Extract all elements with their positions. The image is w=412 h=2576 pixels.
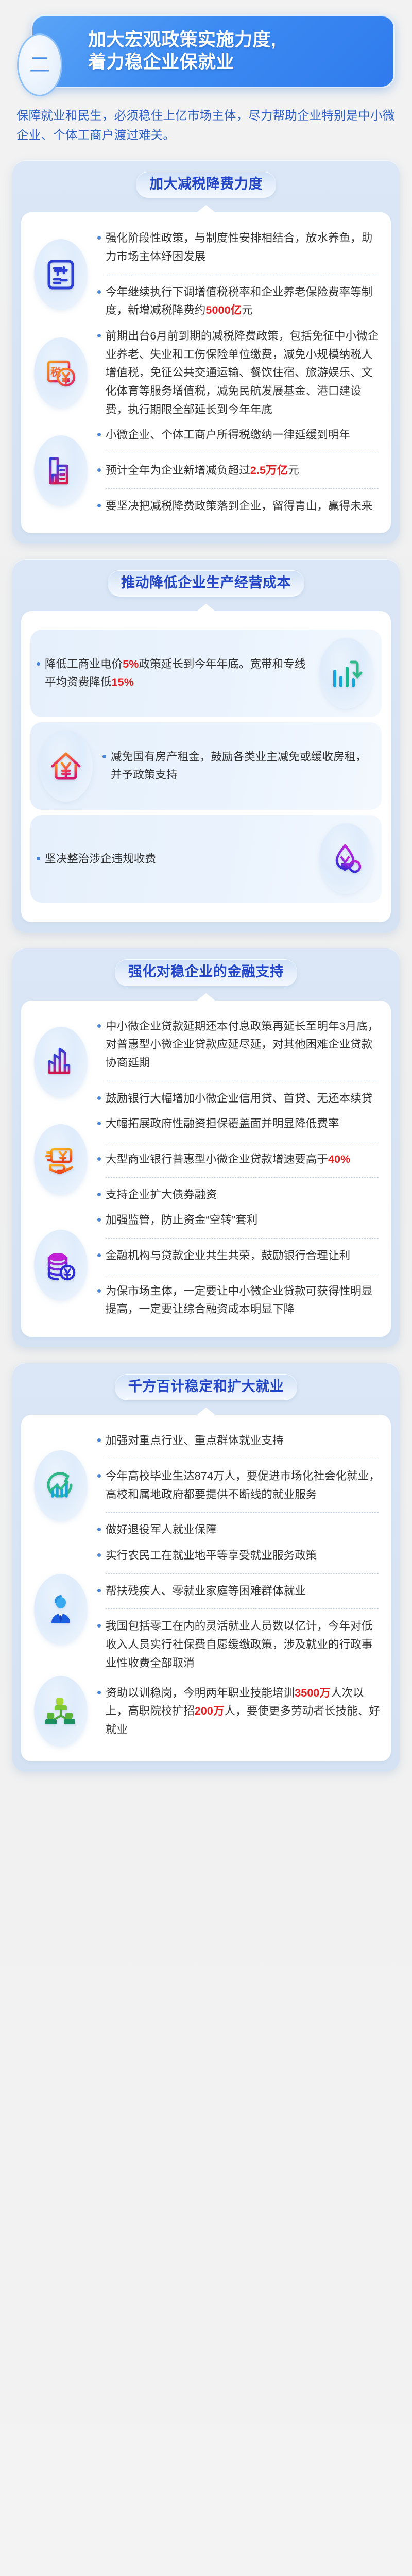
- bullet-divider: [106, 1608, 379, 1609]
- text-fragment: 前期出台6月前到期的减税降费政策，包括免征中小微企业养老、失业和工伤保险单位缴费…: [106, 330, 379, 416]
- bullet-dot-icon: [97, 468, 101, 472]
- bullet-item: 帮扶残疾人、零就业家庭等困难群体就业: [97, 1579, 381, 1604]
- text-fragment: 支持企业扩大债券融资: [106, 1189, 217, 1201]
- bullet-list: 降低工商业电价5%政策延长到今年年底。宽带和专线平均资费降低15%: [36, 652, 311, 696]
- highlight-number: 2.5万亿: [250, 464, 288, 477]
- growth-arrow-chart-icon: [34, 1450, 88, 1521]
- policy-row: 中小微企业贷款延期还本付息政策再延长至明年3月底，对普惠型小微企业贷款应延尽延，…: [30, 1014, 382, 1112]
- bullet-dot-icon: [97, 1218, 101, 1222]
- policy-row: 实行农民工在就业地平等享受就业服务政策帮扶残疾人、零就业家庭等困难群体就业我国包…: [30, 1543, 382, 1676]
- icon-cell: [30, 1124, 91, 1195]
- bullet-divider: [106, 1274, 379, 1274]
- bullet-item: 为保市场主体，一定要让中小微企业贷款可获得性明显提高，一定要让综合融资成本明显下…: [97, 1279, 381, 1323]
- text-fragment: 加强对重点行业、重点群体就业支持: [106, 1434, 284, 1447]
- bullet-dot-icon: [97, 1122, 101, 1125]
- bullet-dot-icon: [97, 1691, 101, 1694]
- section-title: 加大减税降费力度: [149, 176, 263, 192]
- section-header-pill: 千方百计稳定和扩大就业: [115, 1374, 298, 1400]
- bullet-item: 做好退役军人就业保障: [97, 1517, 381, 1543]
- text-fragment: 鼓励银行大幅增加小微企业信用贷、首贷、无还本续贷: [106, 1092, 372, 1105]
- bullet-dot-icon: [97, 1024, 101, 1028]
- bullet-item: 中小微企业贷款延期还本付息政策再延长至明年3月底，对普惠型小微企业贷款应延尽延，…: [97, 1014, 381, 1076]
- bullet-item: 加强监管，防止资金“空转”套利: [97, 1208, 381, 1233]
- bullet-divider: [106, 488, 379, 489]
- icon-cell: [30, 1027, 91, 1098]
- bullet-dot-icon: [97, 1553, 101, 1557]
- building-chart-icon: [34, 435, 88, 506]
- callout-notch: [196, 604, 216, 612]
- bullet-text: 做好退役军人就业保障: [106, 1521, 381, 1539]
- text-fragment: 元: [242, 304, 253, 316]
- bullet-text: 今年高校毕业生达874万人，要促进市场化社会化就业，高校和属地政府都要提供不断线…: [106, 1467, 381, 1504]
- bullet-list: 坚决整治涉企违规收费: [36, 846, 311, 872]
- policy-row: 税 前期出台6月前到期的减税降费政策，包括免征中小微企业养老、失业和工伤保险单位…: [30, 324, 382, 422]
- bullet-text: 帮扶残疾人、零就业家庭等困难群体就业: [106, 1582, 381, 1601]
- section-body: 中小微企业贷款延期还本付息政策再延长至明年3月底，对普惠型小微企业贷款应延尽延，…: [21, 1001, 391, 1337]
- icon-cell: [30, 1230, 91, 1301]
- bullet-item: 降低工商业电价5%政策延长到今年年底。宽带和专线平均资费降低15%: [37, 652, 310, 696]
- bullet-item: 强化阶段性政策，与制度性安排相结合，放水养鱼，助力市场主体纾困发展: [97, 226, 381, 269]
- bullet-text: 减免国有房产租金，鼓励各类业主减免或缓收房租，并予政策支持: [111, 748, 375, 785]
- bullet-dot-icon: [97, 1474, 101, 1478]
- icon-cell: [30, 239, 91, 310]
- declining-bar-chart-icon: [319, 638, 373, 709]
- bullet-dot-icon: [97, 1438, 101, 1442]
- section-header-pill: 强化对稳企业的金融支持: [115, 959, 298, 986]
- bullet-text: 资助以训稳岗，今明两年职业技能培训3500万人次以上，高职院校扩招200万人，要…: [106, 1684, 381, 1739]
- callout-notch: [196, 1408, 216, 1415]
- bullet-text: 降低工商业电价5%政策延长到今年年底。宽带和专线平均资费降低15%: [45, 655, 310, 692]
- icon-cell: [316, 638, 376, 709]
- text-fragment: 为保市场主体，一定要让中小微企业贷款可获得性明显提高，一定要让综合融资成本明显下…: [106, 1285, 372, 1316]
- text-fragment: 强化阶段性政策，与制度性安排相结合，放水养鱼，助力市场主体纾困发展: [106, 232, 372, 263]
- bullet-text: 大型商业银行普惠型小微企业贷款增速要高于40%: [106, 1150, 381, 1169]
- bullet-item: 预计全年为企业新增减负超过2.5万亿元: [97, 458, 381, 484]
- text-fragment: 预计全年为企业新增减负超过: [106, 464, 250, 477]
- bullet-dot-icon: [97, 1624, 101, 1628]
- bullet-dot-icon: [102, 755, 106, 758]
- bullet-list: 小微企业、个体工商户所得税缴纳一律延缓到明年预计全年为企业新增减负超过2.5万亿…: [96, 422, 382, 519]
- section-title: 强化对稳企业的金融支持: [128, 964, 284, 980]
- bullet-item: 金融机构与贷款企业共生共荣，鼓励银行合理让利: [97, 1243, 381, 1269]
- text-fragment: 减免国有房产租金，鼓励各类业主减免或缓收房租，并予政策支持: [111, 751, 367, 782]
- bullet-text: 要坚决把减税降费政策落到企业，留得青山，赢得未来: [106, 497, 381, 516]
- bullet-dot-icon: [97, 1253, 101, 1257]
- section-header-pill: 推动降低企业生产经营成本: [108, 570, 304, 597]
- section-number-text: 二: [29, 55, 50, 75]
- sections-container: 加大减税降费力度 强化阶段性政策，与制度性安排相结合，放水养鱼，助力市场主体纾困…: [0, 160, 412, 1772]
- coin-stack-icon: [34, 1230, 88, 1301]
- page-title: 加大宏观政策实施力度, 着力稳企业保就业: [88, 29, 276, 73]
- bullet-dot-icon: [37, 857, 40, 860]
- house-rent-icon: [39, 731, 93, 802]
- bullet-divider: [106, 1081, 379, 1081]
- bullet-list: 减免国有房产租金，鼓励各类业主减免或缓收房租，并予政策支持: [101, 744, 376, 788]
- bullet-text: 强化阶段性政策，与制度性安排相结合，放水养鱼，助力市场主体纾困发展: [106, 229, 381, 266]
- policy-row: 加强对重点行业、重点群体就业支持今年高校毕业生达874万人，要促进市场化社会化就…: [30, 1428, 382, 1543]
- icon-cell: [30, 1676, 91, 1747]
- bullet-divider: [106, 453, 379, 453]
- text-fragment: 降低工商业电价: [45, 658, 123, 670]
- bullet-dot-icon: [97, 1289, 101, 1293]
- policy-row: 强化阶段性政策，与制度性安排相结合，放水养鱼，助力市场主体纾困发展今年继续执行下…: [30, 226, 382, 324]
- infographic-page: 加大宏观政策实施力度, 着力稳企业保就业 二 保障就业和民生，必须稳住上亿市场主…: [0, 0, 412, 2576]
- bullet-list: 大幅拓展政府性融资担保覆盖面并明显降低费率大型商业银行普惠型小微企业贷款增速要高…: [96, 1111, 382, 1208]
- bullet-dot-icon: [97, 290, 101, 294]
- bullet-text: 中小微企业贷款延期还本付息政策再延长至明年3月底，对普惠型小微企业贷款应延尽延，…: [106, 1018, 381, 1073]
- bullet-item: 减免国有房产租金，鼓励各类业主减免或缓收房租，并予政策支持: [102, 744, 375, 788]
- text-fragment: 大型商业银行普惠型小微企业贷款增速要高于: [106, 1153, 328, 1165]
- bullet-item: 鼓励银行大幅增加小微企业信用贷、首贷、无还本续贷: [97, 1086, 381, 1112]
- text-fragment: 金融机构与贷款企业共生共荣，鼓励银行合理让利: [106, 1249, 350, 1262]
- bullet-item: 大型商业银行普惠型小微企业贷款增速要高于40%: [97, 1147, 381, 1173]
- bullet-divider: [106, 275, 379, 275]
- bullet-item: 小微企业、个体工商户所得税缴纳一律延缓到明年: [97, 422, 381, 448]
- icon-cell: [30, 1574, 91, 1645]
- bullet-dot-icon: [97, 1193, 101, 1196]
- text-fragment: 小微企业、个体工商户所得税缴纳一律延缓到明年: [106, 429, 350, 441]
- text-fragment: 要坚决把减税降费政策落到企业，留得青山，赢得未来: [106, 500, 372, 512]
- page-header: 加大宏观政策实施力度, 着力稳企业保就业 二: [9, 14, 403, 94]
- policy-row: 坚决整治涉企违规收费: [30, 815, 382, 903]
- bullet-item: 我国包括零工在内的灵活就业人员数以亿计，今年对低收入人员实行社保费自愿缓缴政策，…: [97, 1614, 381, 1676]
- bullet-item: 实行农民工在就业地平等享受就业服务政策: [97, 1543, 381, 1569]
- text-fragment: 坚决整治涉企违规收费: [45, 853, 156, 865]
- bullet-text: 鼓励银行大幅增加小微企业信用贷、首贷、无还本续贷: [106, 1090, 381, 1108]
- highlight-number: 5000亿: [205, 304, 242, 316]
- icon-cell: [316, 823, 376, 894]
- section-title: 推动降低企业生产经营成本: [121, 575, 291, 591]
- text-fragment: 实行农民工在就业地平等享受就业服务政策: [106, 1549, 317, 1562]
- highlight-number: 40%: [328, 1153, 350, 1165]
- bullet-text: 为保市场主体，一定要让中小微企业贷款可获得性明显提高，一定要让综合融资成本明显下…: [106, 1282, 381, 1319]
- section-body: 降低工商业电价5%政策延长到今年年底。宽带和专线平均资费降低15% 减免国有房产…: [21, 611, 391, 922]
- policy-row: 大幅拓展政府性融资担保覆盖面并明显降低费率大型商业银行普惠型小微企业贷款增速要高…: [30, 1111, 382, 1208]
- section-body: 强化阶段性政策，与制度性安排相结合，放水养鱼，助力市场主体纾困发展今年继续执行下…: [21, 212, 391, 533]
- text-fragment: 元: [288, 464, 299, 477]
- bullet-dot-icon: [97, 236, 101, 240]
- text-fragment: 我国包括零工在内的灵活就业人员数以亿计，今年对低收入人员实行社保费自愿缓缴政策，…: [106, 1620, 372, 1669]
- bullet-item: 加强对重点行业、重点群体就业支持: [97, 1428, 381, 1454]
- intro-paragraph: 保障就业和民生，必须稳住上亿市场主体，尽力帮助企业特别是中小微企业、个体工商户渡…: [16, 106, 396, 145]
- section-title: 千方百计稳定和扩大就业: [128, 1379, 284, 1395]
- policy-row: 减免国有房产租金，鼓励各类业主减免或缓收房租，并予政策支持: [30, 722, 382, 810]
- callout-notch: [196, 205, 216, 213]
- highlight-number: 3500万: [295, 1687, 331, 1699]
- bullet-divider: [106, 1142, 379, 1142]
- highlight-number: 15%: [112, 676, 134, 688]
- policy-row: 加强监管，防止资金“空转”套利金融机构与贷款企业共生共荣，鼓励银行合理让利为保市…: [30, 1208, 382, 1323]
- bullet-item: 今年高校毕业生达874万人，要促进市场化社会化就业，高校和属地政府都要提供不断线…: [97, 1464, 381, 1507]
- text-fragment: 中小微企业贷款延期还本付息政策再延长至明年3月底，对普惠型小微企业贷款应延尽延，…: [106, 1020, 379, 1069]
- bullet-list: 中小微企业贷款延期还本付息政策再延长至明年3月底，对普惠型小微企业贷款应延尽延，…: [96, 1014, 382, 1112]
- section-header-pill: 加大减税降费力度: [136, 172, 276, 198]
- bullet-dot-icon: [97, 1157, 101, 1161]
- bullet-divider: [106, 1573, 379, 1574]
- bullet-dot-icon: [97, 504, 101, 507]
- bullet-list: 强化阶段性政策，与制度性安排相结合，放水养鱼，助力市场主体纾困发展今年继续执行下…: [96, 226, 382, 324]
- icon-cell: [36, 731, 96, 802]
- tax-yuan-icon: 税: [34, 337, 88, 409]
- bullet-text: 坚决整治涉企违规收费: [45, 850, 310, 869]
- bullet-text: 小微企业、个体工商户所得税缴纳一律延缓到明年: [106, 426, 381, 445]
- text-fragment: 做好退役军人就业保障: [106, 1523, 217, 1536]
- bullet-divider: [106, 1238, 379, 1239]
- bullet-item: 今年继续执行下调增值税税率和企业养老保险费率等制度，新增减税降费约5000亿元: [97, 280, 381, 324]
- city-skyline-icon: [34, 1027, 88, 1098]
- bullet-dot-icon: [97, 334, 101, 337]
- policy-section: 强化对稳企业的金融支持 中小微企业贷款延期还本付息政策再延长至明年3月底，对普惠…: [12, 948, 400, 1347]
- policy-section: 加大减税降费力度 强化阶段性政策，与制度性安排相结合，放水养鱼，助力市场主体纾困…: [12, 160, 400, 544]
- water-fee-icon: [319, 823, 373, 894]
- bullet-dot-icon: [97, 433, 101, 436]
- bullet-text: 金融机构与贷款企业共生共荣，鼓励银行合理让利: [106, 1247, 381, 1265]
- bullet-item: 坚决整治涉企违规收费: [37, 846, 310, 872]
- policy-row: 资助以训稳岗，今明两年职业技能培训3500万人次以上，高职院校扩招200万人，要…: [30, 1676, 382, 1747]
- text-fragment: 资助以训稳岗，今明两年职业技能培训: [106, 1687, 295, 1699]
- highlight-number: 5%: [123, 658, 139, 670]
- policy-section: 推动降低企业生产经营成本 降低工商业电价5%政策延长到今年年底。宽带和专线平均资…: [12, 559, 400, 933]
- bullet-list: 加强监管，防止资金“空转”套利金融机构与贷款企业共生共荣，鼓励银行合理让利为保市…: [96, 1208, 382, 1323]
- text-fragment: 大幅拓展政府性融资担保覆盖面并明显降低费率: [106, 1117, 339, 1130]
- bullet-divider: [106, 1177, 379, 1178]
- bullet-text: 加强对重点行业、重点群体就业支持: [106, 1432, 381, 1450]
- section-number-badge: 二: [17, 33, 62, 96]
- section-body: 加强对重点行业、重点群体就业支持今年高校毕业生达874万人，要促进市场化社会化就…: [21, 1415, 391, 1761]
- tax-calculator-icon: [34, 239, 88, 310]
- bullet-dot-icon: [97, 1589, 101, 1592]
- bullet-divider: [106, 1512, 379, 1513]
- bullet-list: 实行农民工在就业地平等享受就业服务政策帮扶残疾人、零就业家庭等困难群体就业我国包…: [96, 1543, 382, 1676]
- bullet-text: 大幅拓展政府性融资担保覆盖面并明显降低费率: [106, 1115, 381, 1133]
- bullet-list: 前期出台6月前到期的减税降费政策，包括免征中小微企业养老、失业和工伤保险单位缴费…: [96, 324, 382, 422]
- bullet-item: 支持企业扩大债券融资: [97, 1182, 381, 1208]
- bullet-text: 实行农民工在就业地平等享受就业服务政策: [106, 1547, 381, 1565]
- bullet-dot-icon: [97, 1528, 101, 1531]
- bullet-text: 我国包括零工在内的灵活就业人员数以亿计，今年对低收入人员实行社保费自愿缓缴政策，…: [106, 1617, 381, 1672]
- text-fragment: 加强监管，防止资金“空转”套利: [106, 1214, 257, 1226]
- callout-notch: [196, 993, 216, 1001]
- icon-cell: 税: [30, 337, 91, 409]
- bullet-text: 今年继续执行下调增值税税率和企业养老保险费率等制度，新增减税降费约5000亿元: [106, 283, 381, 320]
- icon-cell: [30, 435, 91, 506]
- bullet-text: 前期出台6月前到期的减税降费政策，包括免征中小微企业养老、失业和工伤保险单位缴费…: [106, 327, 381, 419]
- team-training-icon: [34, 1676, 88, 1747]
- policy-row: 降低工商业电价5%政策延长到今年年底。宽带和专线平均资费降低15%: [30, 630, 382, 717]
- bullet-text: 支持企业扩大债券融资: [106, 1186, 381, 1205]
- icon-cell: [30, 1450, 91, 1521]
- bullet-item: 大幅拓展政府性融资担保覆盖面并明显降低费率: [97, 1111, 381, 1137]
- policy-row: 小微企业、个体工商户所得税缴纳一律延缓到明年预计全年为企业新增减负超过2.5万亿…: [30, 422, 382, 519]
- text-fragment: 今年高校毕业生达874万人，要促进市场化社会化就业，高校和属地政府都要提供不断线…: [106, 1470, 380, 1501]
- wallet-hand-icon: [34, 1124, 88, 1195]
- bullet-divider: [106, 1459, 379, 1459]
- bullet-item: 前期出台6月前到期的减税降费政策，包括免征中小微企业养老、失业和工伤保险单位缴费…: [97, 324, 381, 422]
- policy-section: 千方百计稳定和扩大就业 加强对重点行业、重点群体就业支持今年高校毕业生达874万…: [12, 1363, 400, 1772]
- bullet-list: 资助以训稳岗，今明两年职业技能培训3500万人次以上，高职院校扩招200万人，要…: [96, 1681, 382, 1743]
- bullet-text: 加强监管，防止资金“空转”套利: [106, 1211, 381, 1230]
- bullet-item: 要坚决把减税降费政策落到企业，留得青山，赢得未来: [97, 494, 381, 519]
- worker-person-icon: [34, 1574, 88, 1645]
- header-banner: 加大宏观政策实施力度, 着力稳企业保就业: [31, 14, 395, 88]
- bullet-text: 预计全年为企业新增减负超过2.5万亿元: [106, 462, 381, 480]
- bullet-dot-icon: [97, 1096, 101, 1100]
- highlight-number: 200万: [195, 1705, 225, 1717]
- bullet-list: 加强对重点行业、重点群体就业支持今年高校毕业生达874万人，要促进市场化社会化就…: [96, 1428, 382, 1543]
- bullet-dot-icon: [37, 662, 40, 666]
- bullet-item: 资助以训稳岗，今明两年职业技能培训3500万人次以上，高职院校扩招200万人，要…: [97, 1681, 381, 1743]
- text-fragment: 帮扶残疾人、零就业家庭等困难群体就业: [106, 1585, 306, 1597]
